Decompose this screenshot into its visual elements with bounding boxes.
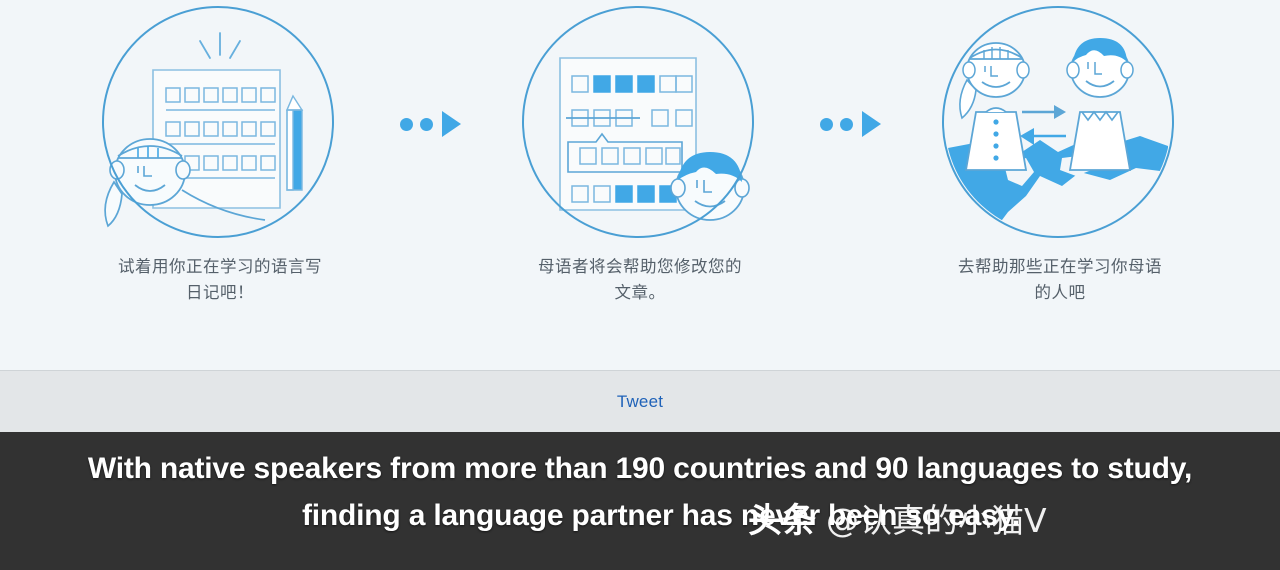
dot-icon <box>420 118 433 131</box>
circle-frame-1 <box>102 6 334 238</box>
circle-frame-2 <box>522 6 754 238</box>
step-3-caption-line2: 的人吧 <box>910 280 1210 306</box>
watermark: 头条 @认真的小猫V <box>748 504 1047 538</box>
page-root: 试着用你正在学习的语言写 日记吧！ <box>0 0 1280 570</box>
tweet-link[interactable]: Tweet <box>617 392 663 412</box>
separator-arrow-1 <box>390 0 470 248</box>
subtitle-line-1: With native speakers from more than 190 … <box>0 446 1280 493</box>
step-write-diary: 试着用你正在学习的语言写 日记吧！ <box>50 0 390 305</box>
step-2-caption-line2: 文章。 <box>490 280 790 306</box>
watermark-handle: @认真的小猫V <box>826 504 1047 537</box>
step-3-illustration <box>930 0 1190 248</box>
step-native-corrects: 母语者将会帮助您修改您的 文章。 <box>470 0 810 305</box>
step-2-illustration <box>510 0 770 248</box>
step-2-caption-line1: 母语者将会帮助您修改您的 <box>490 254 790 280</box>
steps-row: 试着用你正在学习的语言写 日记吧！ <box>0 0 1280 370</box>
step-1-illustration <box>90 0 350 248</box>
subtitle-band: With native speakers from more than 190 … <box>0 432 1280 570</box>
dot-icon <box>400 118 413 131</box>
step-1-caption-line2: 日记吧！ <box>70 280 370 306</box>
triangle-right-icon <box>442 111 461 137</box>
step-1-caption: 试着用你正在学习的语言写 日记吧！ <box>70 254 370 305</box>
step-3-caption-line1: 去帮助那些正在学习你母语 <box>910 254 1210 280</box>
subtitle-text: With native speakers from more than 190 … <box>0 446 1280 539</box>
step-1-caption-line1: 试着用你正在学习的语言写 <box>70 254 370 280</box>
dot-icon <box>820 118 833 131</box>
dot-icon <box>840 118 853 131</box>
separator-arrow-2 <box>810 0 890 248</box>
hero-panel: 试着用你正在学习的语言写 日记吧！ <box>0 0 1280 370</box>
step-2-caption: 母语者将会帮助您修改您的 文章。 <box>490 254 790 305</box>
tweet-bar: Tweet <box>0 370 1280 433</box>
subtitle-line-2: finding a language partner has never bee… <box>0 493 1280 540</box>
triangle-right-icon <box>862 111 881 137</box>
step-help-others: 去帮助那些正在学习你母语 的人吧 <box>890 0 1230 305</box>
step-3-caption: 去帮助那些正在学习你母语 的人吧 <box>910 254 1210 305</box>
watermark-brand: 头条 <box>748 504 816 538</box>
circle-frame-3 <box>942 6 1174 238</box>
